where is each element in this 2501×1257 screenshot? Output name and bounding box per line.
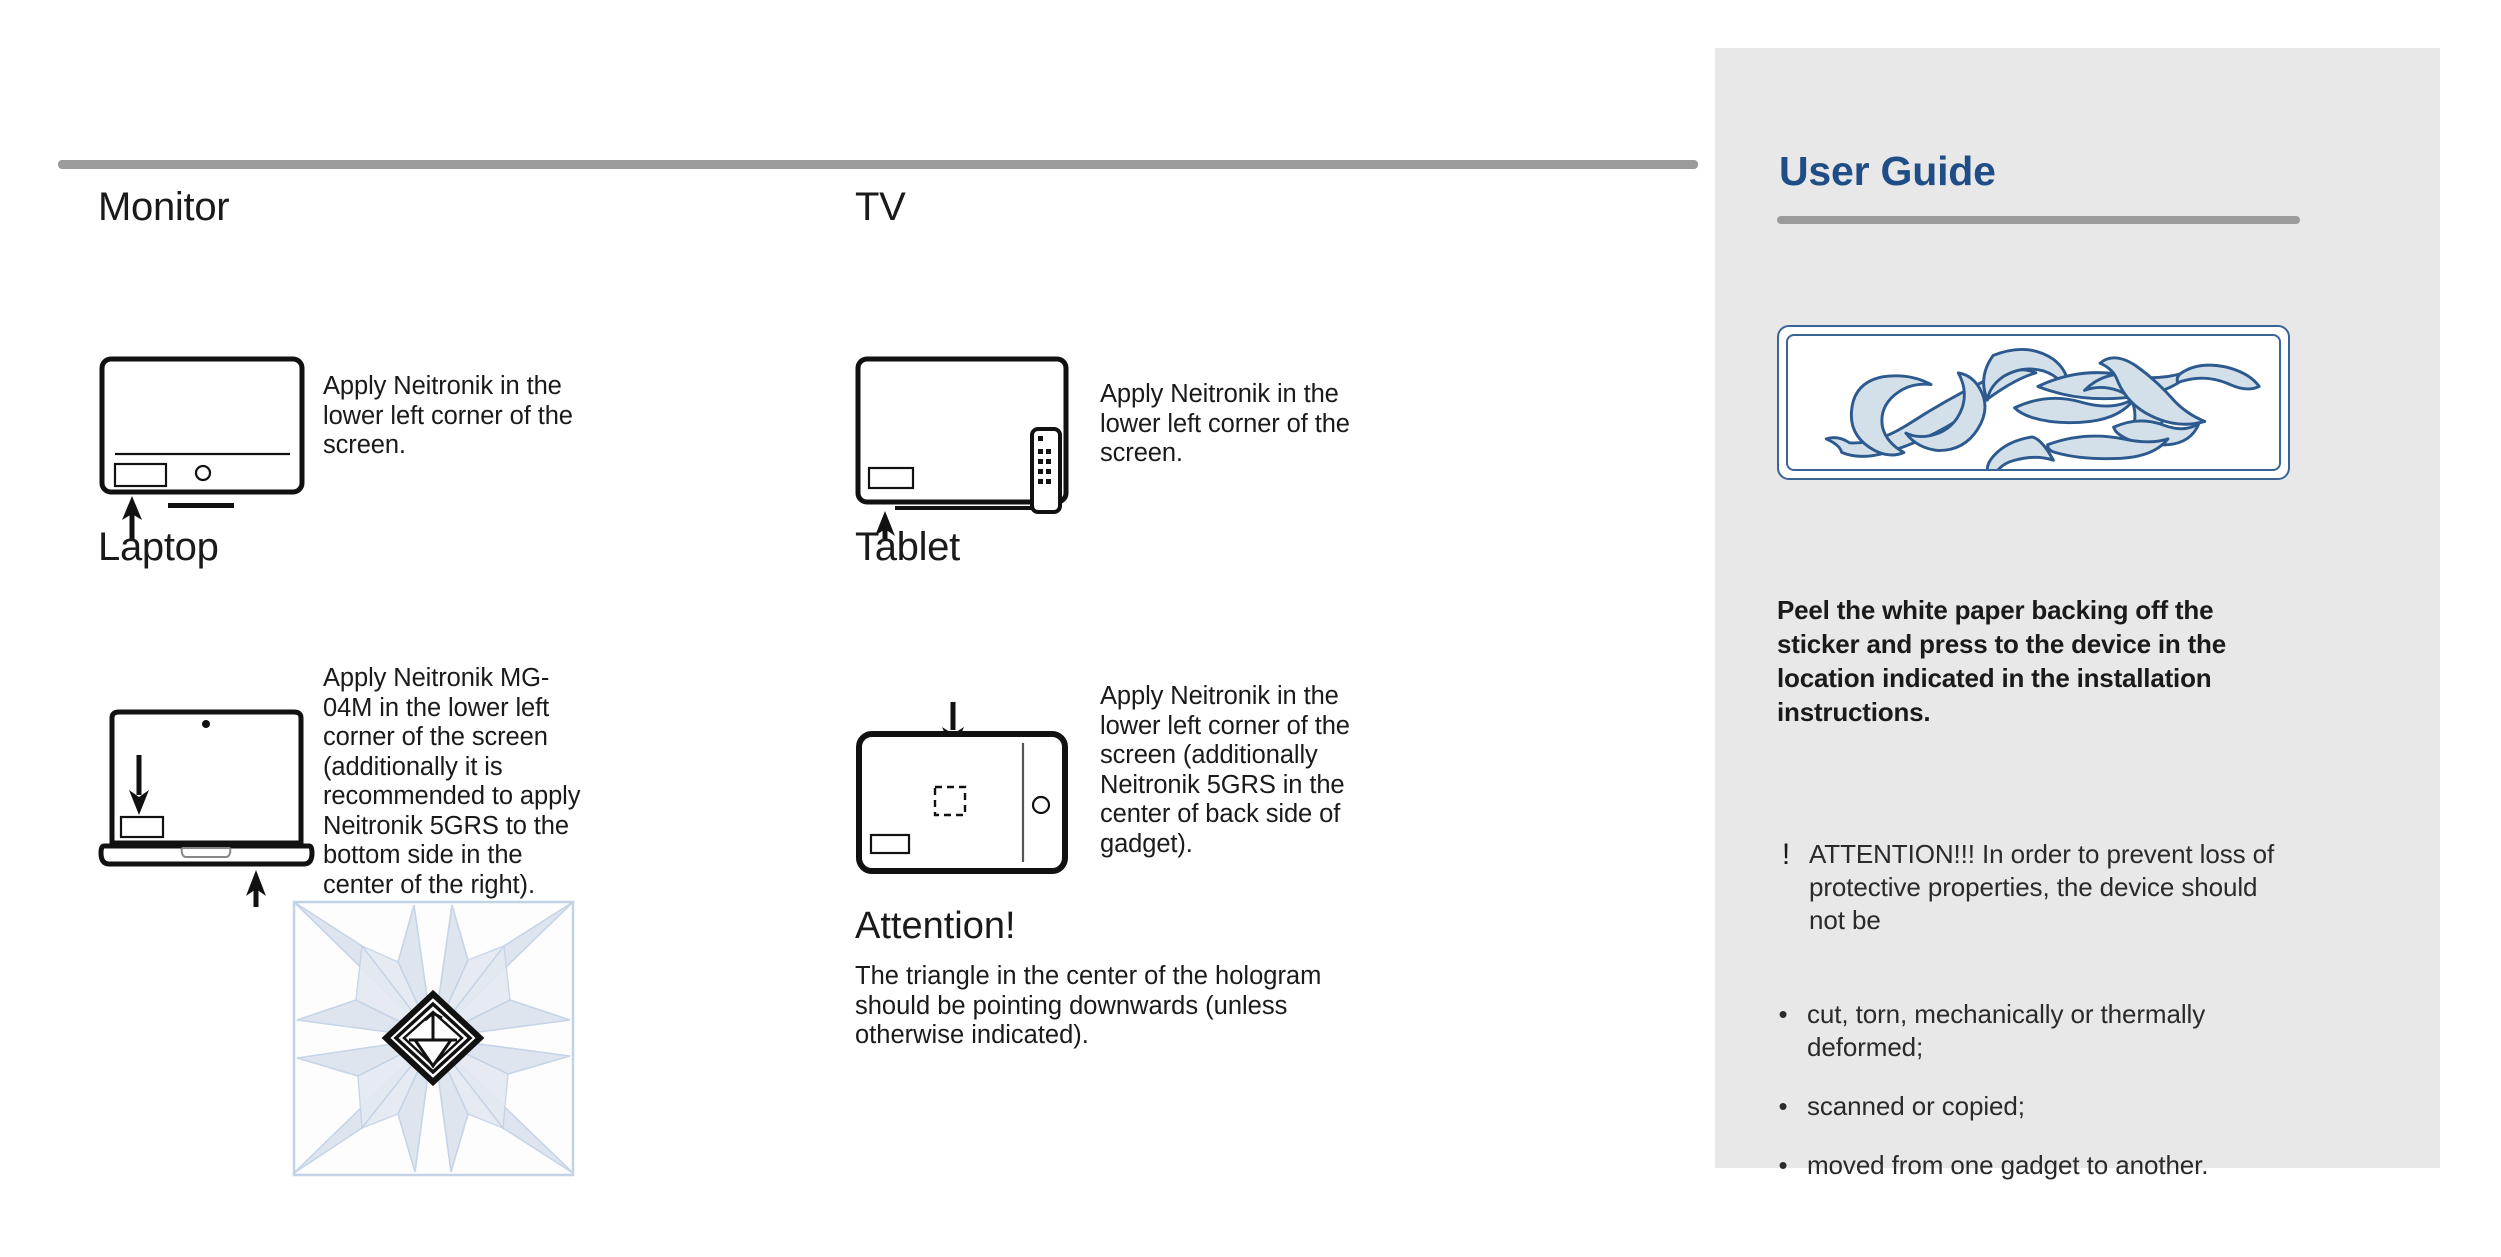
main-instruction-area: Monitor Apply Neitroni <box>0 0 1715 1257</box>
section-tablet: Tablet Apply Neitronik <box>855 525 960 592</box>
section-title-tv: TV <box>855 185 906 230</box>
monitor-sticker-outline <box>115 464 166 486</box>
section-title-laptop: Laptop <box>98 525 219 570</box>
tv-caption: Apply Neitronik in the lower left corner… <box>1100 380 1385 469</box>
list-item-label: scanned or copied; <box>1807 1090 2025 1123</box>
monitor-illustration <box>98 356 308 541</box>
top-divider-rule <box>58 160 1698 169</box>
attention-block: Attention! The triangle in the center of… <box>855 905 1475 1051</box>
tv-illustration <box>855 356 1080 541</box>
list-item-label: moved from one gadget to another. <box>1807 1149 2208 1182</box>
sticker-inner-frame <box>1786 334 2281 471</box>
monitor-figure <box>98 356 308 541</box>
laptop-trackpad-notch <box>182 848 231 857</box>
instruction-sheet-page: Monitor Apply Neitroni <box>0 0 2501 1257</box>
tv-figure <box>855 356 1080 541</box>
laptop-caption: Apply Neitronik MG-04M in the lower left… <box>323 664 588 900</box>
tablet-illustration <box>855 702 1075 877</box>
tablet-home-button-icon <box>1033 797 1049 813</box>
sidebar-attention-text: ATTENTION!!! In order to prevent loss of… <box>1809 838 2277 937</box>
laptop-illustration <box>98 707 328 907</box>
bullet-dot-icon: • <box>1777 1090 1789 1123</box>
hologram-starburst-sample <box>292 900 575 1177</box>
sticker-preview-card <box>1777 325 2290 480</box>
section-title-tablet: Tablet <box>855 525 960 570</box>
attention-heading: Attention! <box>855 905 1475 948</box>
tablet-caption: Apply Neitronik in the lower left corner… <box>1100 682 1362 859</box>
list-item: • scanned or copied; <box>1777 1090 2297 1123</box>
bullet-dot-icon: • <box>1777 1149 1789 1182</box>
bullet-dot-icon: • <box>1777 998 1789 1064</box>
exclamation-mark-icon: ! <box>1777 838 1795 937</box>
hologram-starburst-illustration <box>292 900 575 1177</box>
sidebar-title-rule <box>1777 216 2300 224</box>
laptop-figure <box>98 707 328 907</box>
monitor-caption: Apply Neitronik in the lower left corner… <box>323 372 583 461</box>
attention-body-text: The triangle in the center of the hologr… <box>855 962 1375 1051</box>
sidebar-restriction-list: • cut, torn, mechanically or thermally d… <box>1777 998 2297 1208</box>
monitor-power-button-icon <box>196 466 210 480</box>
section-tv: TV <box>855 185 906 252</box>
tv-sticker-outline <box>869 468 913 488</box>
section-title-monitor: Monitor <box>98 185 229 230</box>
sidebar-attention-note: ! ATTENTION!!! In order to prevent loss … <box>1777 838 2277 937</box>
sidebar-instruction-text: Peel the white paper backing off the sti… <box>1777 593 2293 729</box>
list-item: • moved from one gadget to another. <box>1777 1149 2297 1182</box>
section-monitor: Monitor Apply Neitroni <box>98 185 229 252</box>
list-item: • cut, torn, mechanically or thermally d… <box>1777 998 2297 1064</box>
laptop-sticker-outline <box>121 817 163 837</box>
section-laptop: Laptop <box>98 525 219 592</box>
tv-remote-icon <box>1032 429 1060 512</box>
tablet-figure <box>855 702 1075 877</box>
laptop-webcam-icon <box>202 720 210 728</box>
list-item-label: cut, torn, mechanically or thermally def… <box>1807 998 2297 1064</box>
sidebar-title: User Guide <box>1779 148 1996 195</box>
monitor-stand <box>168 503 234 508</box>
user-guide-sidebar: User Guide <box>1715 48 2440 1168</box>
tablet-sticker-outline <box>871 835 909 853</box>
celtic-knot-hologram-icon <box>1788 336 2279 469</box>
laptop-arrow-up-icon <box>246 870 266 907</box>
